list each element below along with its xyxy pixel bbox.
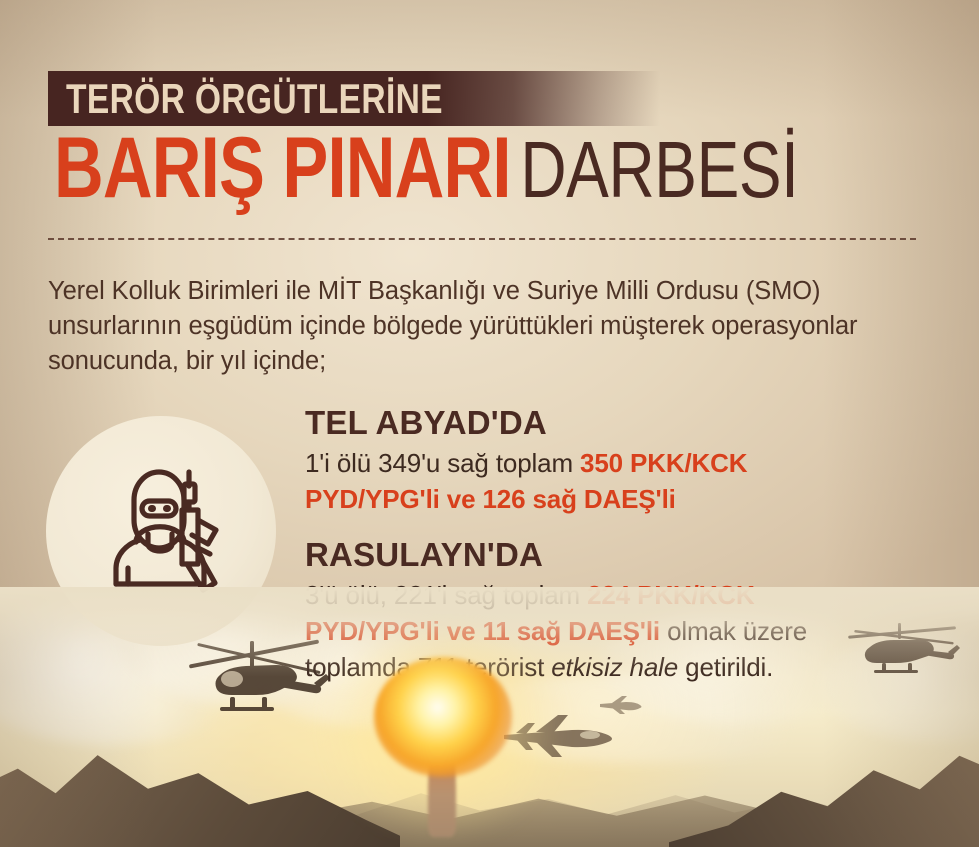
title-highlight: BARIŞ PINARI	[54, 120, 511, 216]
stat-line: 1'i ölü 349'u sağ toplam 350 PKK/KCK	[305, 445, 920, 481]
infographic-poster: TERÖR ÖRGÜTLERİNE BARIŞ PINARIDARBESİ Ye…	[0, 0, 979, 847]
stat-figure: 350 PKK/KCK	[580, 448, 747, 478]
fighter-jet-far	[598, 695, 644, 715]
bottom-photo-scene	[0, 587, 979, 847]
stat-figure: PYD/YPG'li ve 126 sağ DAEŞ'li	[305, 484, 676, 514]
stat-block-tel-abyad: TEL ABYAD'DA 1'i ölü 349'u sağ toplam 35…	[305, 403, 920, 517]
intro-line-1: Yerel Kolluk Birimleri ile MİT Başkanlığ…	[48, 274, 928, 309]
intro-line-2: unsurlarının eşgüdüm içinde bölgede yürü…	[48, 309, 928, 344]
explosion-fireball	[368, 657, 518, 837]
stat-heading: RASULAYN'DA	[305, 535, 920, 575]
stat-text: 1'i ölü 349'u sağ toplam	[305, 448, 580, 478]
header-kicker: TERÖR ÖRGÜTLERİNE	[66, 76, 443, 122]
stat-line: PYD/YPG'li ve 126 sağ DAEŞ'li	[305, 481, 920, 517]
photo-top-fade	[0, 587, 979, 677]
title-rest: DARBESİ	[520, 125, 798, 214]
stat-body: 1'i ölü 349'u sağ toplam 350 PKK/KCK PYD…	[305, 445, 920, 517]
masked-militant-with-rifle-icon	[86, 456, 236, 606]
divider-under-title	[48, 238, 916, 240]
stat-heading: TEL ABYAD'DA	[305, 403, 920, 443]
intro-line-3: sonucunda, bir yıl içinde;	[48, 344, 928, 379]
page-title: BARIŞ PINARIDARBESİ	[54, 130, 799, 231]
intro-paragraph: Yerel Kolluk Birimleri ile MİT Başkanlığ…	[48, 274, 928, 379]
